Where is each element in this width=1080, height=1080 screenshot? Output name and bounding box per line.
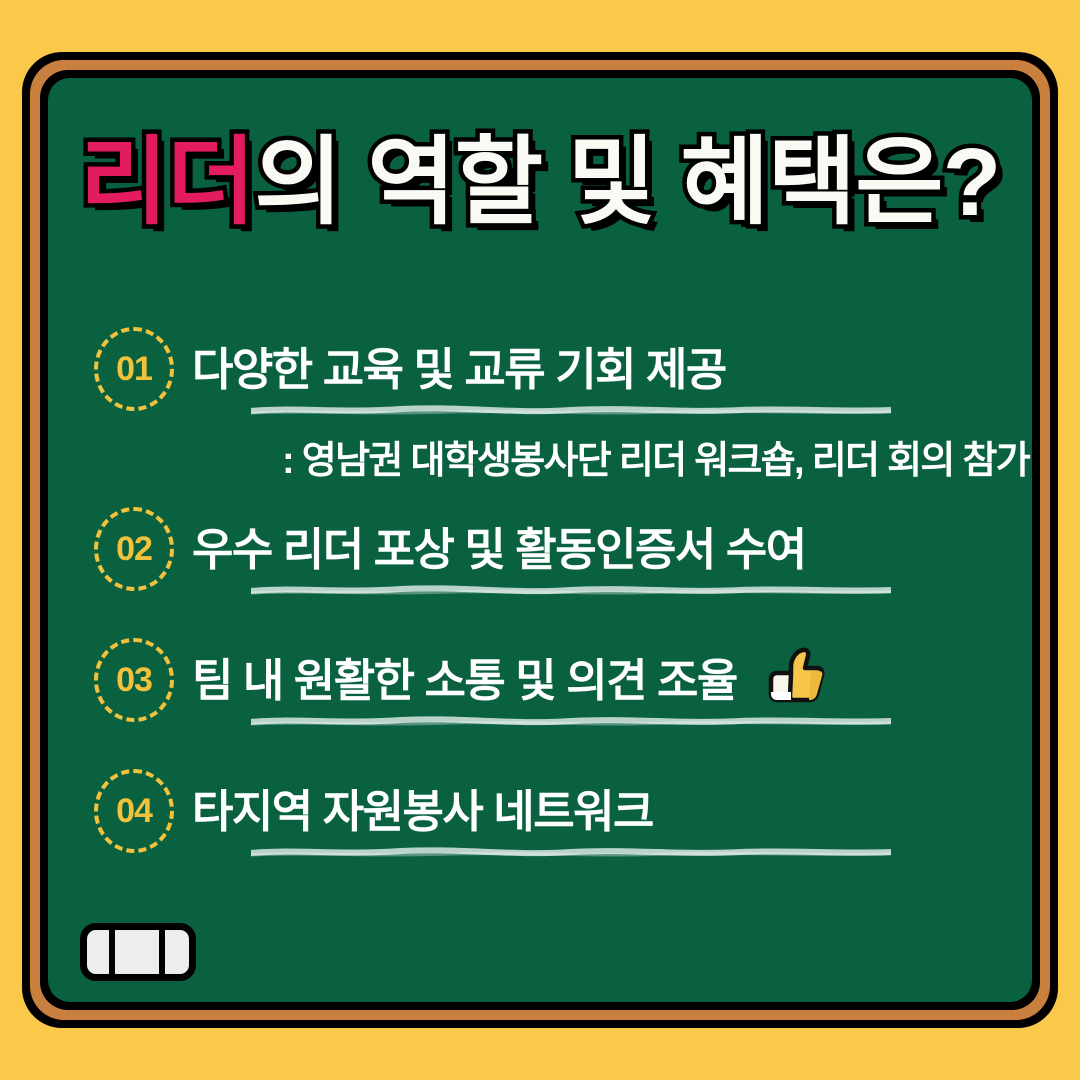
chalk-underline-icon	[251, 584, 891, 596]
list-item: 02 우수 리더 포상 및 활동인증서 수여	[94, 510, 994, 588]
list-item-head: 04 타지역 자원봉사 네트워크	[94, 772, 994, 850]
list-item: 01 다양한 교육 및 교류 기회 제공 : 영남권 대학생봉사단 리더 워크숍…	[94, 330, 994, 408]
list-item-head: 02 우수 리더 포상 및 활동인증서 수여	[94, 510, 994, 588]
poster-canvas: 리더의 역할 및 혜택은? 01 다양한 교육 및 교류 기회 제공 : 영남권…	[0, 0, 1080, 1080]
chalk-underline-icon	[251, 404, 891, 416]
benefits-list: 01 다양한 교육 및 교류 기회 제공 : 영남권 대학생봉사단 리더 워크숍…	[48, 78, 1032, 1002]
list-item-head: 01 다양한 교육 및 교류 기회 제공	[94, 330, 994, 408]
item-number-badge: 03	[94, 638, 174, 722]
list-item-label: 다양한 교육 및 교류 기회 제공	[192, 347, 726, 392]
list-item-label: 타지역 자원봉사 네트워크	[192, 789, 653, 834]
chalk-underline-icon	[251, 715, 891, 727]
eraser-seam-right	[159, 930, 165, 974]
list-item-subtext: : 영남권 대학생봉사단 리더 워크숍, 리더 회의 참가 등	[282, 442, 1032, 480]
list-item-label: 우수 리더 포상 및 활동인증서 수여	[192, 527, 806, 572]
list-item-head: 03 팀 내 원활한 소통 및 의견 조율	[94, 641, 994, 719]
chalk-underline-icon	[251, 846, 891, 858]
item-number-badge: 02	[94, 507, 174, 591]
eraser-seam-left	[109, 930, 115, 974]
chalkboard-surface: 리더의 역할 및 혜택은? 01 다양한 교육 및 교류 기회 제공 : 영남권…	[48, 78, 1032, 1002]
list-item-label: 팀 내 원활한 소통 및 의견 조율	[192, 658, 737, 703]
chalkboard-eraser-icon	[80, 923, 196, 981]
item-number-badge: 01	[94, 327, 174, 411]
item-number-badge: 04	[94, 769, 174, 853]
list-item: 04 타지역 자원봉사 네트워크	[94, 772, 994, 850]
thumbs-up-icon	[765, 646, 829, 706]
list-item: 03 팀 내 원활한 소통 및 의견 조율	[94, 641, 994, 719]
